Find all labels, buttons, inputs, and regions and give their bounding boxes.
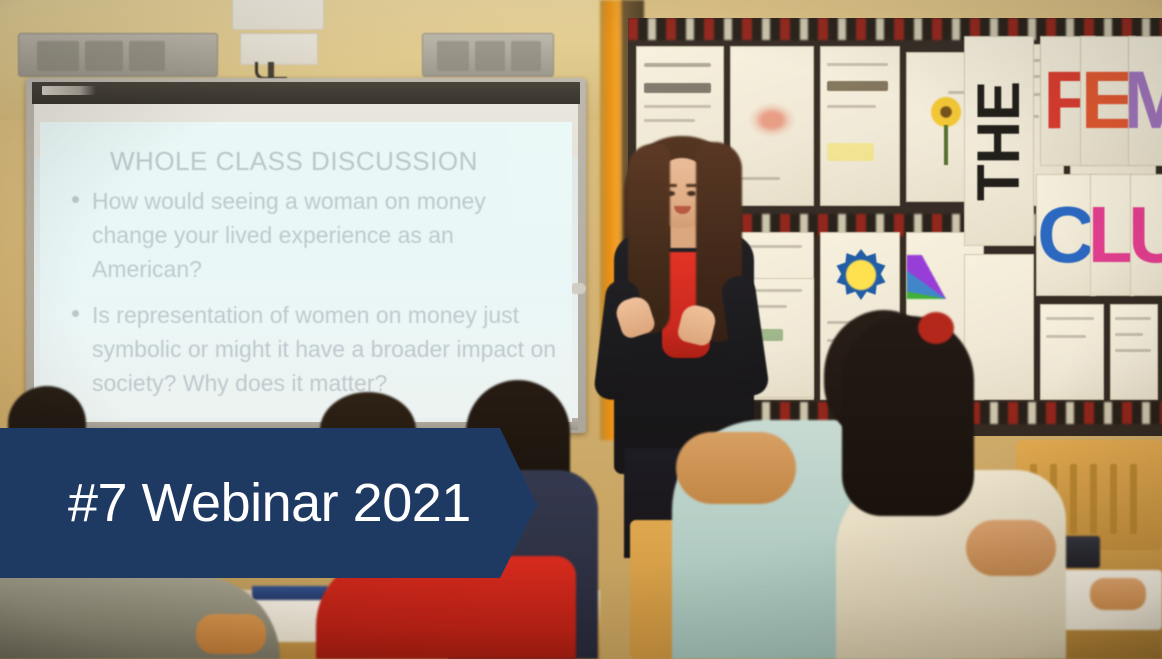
student-cream-shirt-arm — [966, 520, 1056, 576]
poster-letter-c: C — [1036, 174, 1096, 296]
notebook-blue — [252, 586, 328, 600]
poster-letter-text: E — [1081, 37, 1135, 165]
student-poster — [1040, 304, 1104, 400]
projector-mount-plate — [240, 33, 318, 65]
wall-speaker-left — [18, 33, 218, 77]
student-hand-right — [1090, 578, 1146, 610]
slide-bullet: How would seeing a woman on money change… — [60, 184, 560, 286]
slide-bullet-list: How would seeing a woman on money change… — [60, 184, 560, 412]
poster-letter-text: L — [1091, 175, 1133, 295]
projector-housing — [232, 0, 324, 30]
sun-badge-doodle — [835, 249, 887, 301]
student-poster — [1110, 304, 1158, 400]
poster-letter-text: C — [1037, 175, 1095, 295]
whiteboard-top-rail — [32, 82, 580, 104]
banner-title-text: #7 Webinar 2021 — [68, 476, 471, 530]
student-hand-left — [196, 614, 266, 654]
poster-letter-text: THE — [965, 37, 1033, 245]
projected-slide: WHOLE CLASS DISCUSSION How would seeing … — [40, 122, 572, 422]
poster-letter-the: THE — [964, 36, 1034, 246]
student-poster — [820, 46, 900, 206]
whiteboard-brand-logo — [42, 86, 96, 95]
title-banner: #7 Webinar 2021 — [0, 428, 537, 578]
screenshot-root: WHOLE CLASS DISCUSSION How would seeing … — [0, 0, 1162, 659]
poster-letter-l: L — [1090, 174, 1134, 296]
student-hair-tie — [918, 312, 954, 344]
student-mint-shirt-arm — [676, 432, 796, 504]
poster-letter-m: M — [1128, 36, 1162, 166]
slide-bullet: Is representation of women on money just… — [60, 298, 560, 400]
poster-letter-text: U — [1131, 175, 1162, 295]
student-poster — [964, 254, 1034, 400]
wall-speaker-right — [422, 33, 554, 77]
slide-title: WHOLE CLASS DISCUSSION — [110, 146, 478, 177]
banner-left-edge — [0, 428, 4, 578]
poster-letter-text: M — [1129, 37, 1162, 165]
poster-letter-u: U — [1130, 174, 1162, 296]
student-cream-shirt-head — [842, 316, 974, 516]
